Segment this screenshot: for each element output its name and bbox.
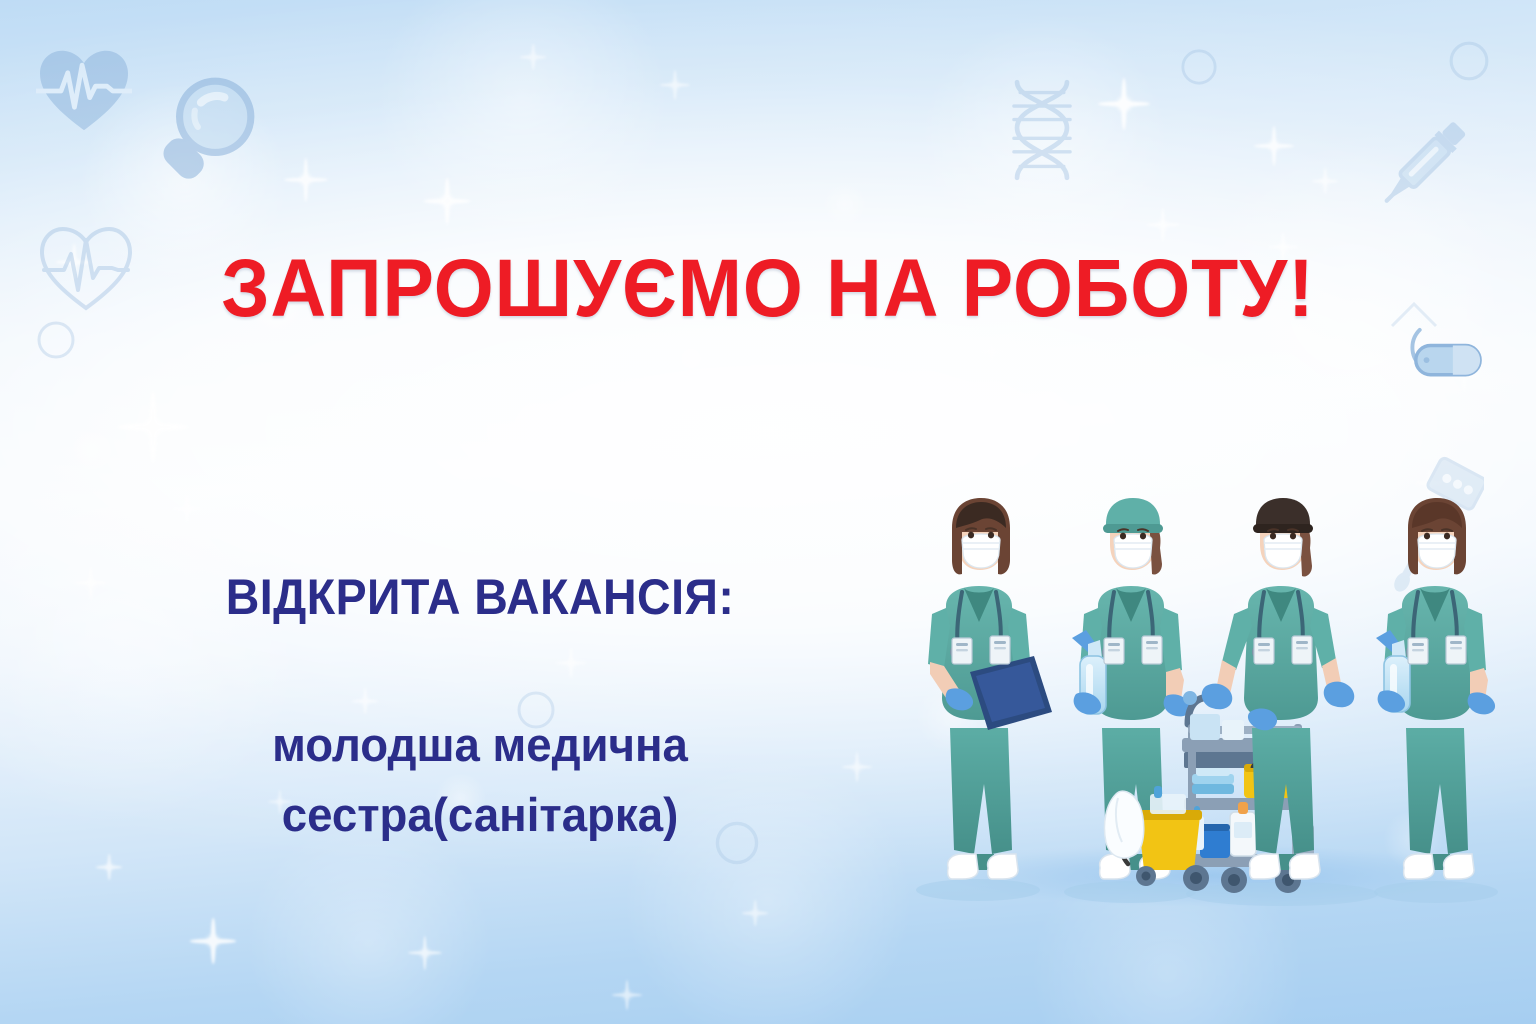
job-vacancy-poster: ЗАПРОШУЄМО НА РОБОТУ! ВІДКРИТА ВАКАНСІЯ:…	[0, 0, 1536, 1024]
medical-cleaning-staff-illustration	[900, 498, 1524, 918]
sparkle-star	[742, 900, 768, 926]
sparkle-star	[118, 392, 188, 462]
pill-capsule-icon	[1408, 326, 1486, 386]
sparkle-star	[1146, 208, 1180, 242]
dna-helix-icon	[1000, 78, 1084, 182]
nurse-with-spray-bottle	[1376, 498, 1495, 879]
white-bottle	[1230, 802, 1256, 856]
nurse-with-clipboard	[928, 498, 1052, 879]
syringe-icon	[1366, 104, 1482, 220]
sparkle-star	[172, 494, 202, 524]
bubble-circle-icon	[1448, 40, 1490, 82]
page-title: ЗАПРОШУЄМО НА РОБОТУ!	[46, 248, 1490, 330]
sparkle-star	[980, 340, 1004, 364]
sparkle-star	[1312, 168, 1338, 194]
sparkle-star	[190, 918, 236, 964]
bubble-circle-icon	[1180, 48, 1218, 86]
sparkle-star	[1416, 470, 1442, 496]
trash-bag	[1104, 791, 1143, 858]
job-title-block: молодша медична сестра(санітарка)	[73, 710, 888, 849]
sparkle-star	[1098, 78, 1150, 130]
sparkle-star	[1448, 360, 1480, 392]
sparkle-star	[424, 178, 470, 224]
sparkle-star	[284, 158, 328, 202]
sparkle-star	[408, 936, 442, 970]
sparkle-star	[1254, 126, 1294, 166]
job-title-line-2: сестра(санітарка)	[73, 780, 888, 850]
sparkle-star	[556, 648, 586, 678]
blue-bottle	[1200, 824, 1230, 858]
sparkle-star	[520, 44, 546, 70]
vacancy-subtitle: ВІДКРИТА ВАКАНСІЯ:	[89, 572, 870, 622]
surgical-cap	[1253, 498, 1313, 533]
surgical-cap	[1103, 498, 1163, 533]
heart-pulse-filled-icon	[36, 46, 132, 134]
sparkle-star	[96, 854, 122, 880]
nurse-pushing-cart	[1202, 498, 1355, 879]
sparkle-star	[612, 980, 642, 1010]
job-title-line-1: молодша медична	[73, 710, 888, 780]
sparkle-star	[660, 70, 690, 100]
magnifier-icon	[148, 74, 260, 186]
